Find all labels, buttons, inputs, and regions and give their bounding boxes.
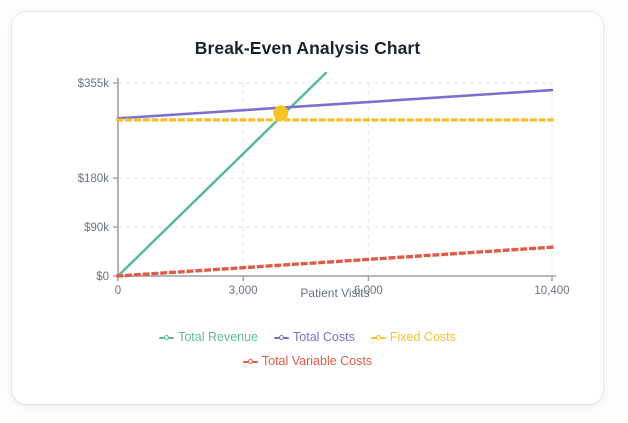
- series-lines: [118, 73, 552, 276]
- y-tick-label: $355k: [78, 78, 110, 90]
- y-tick-label: $90k: [84, 222, 109, 234]
- chart-card: Break-Even Analysis Chart $0$90k$180k$35…: [12, 12, 603, 404]
- data-point-markers[interactable]: [273, 105, 288, 120]
- legend-marker-icon: [243, 356, 258, 366]
- legend-item-total-costs[interactable]: Total Costs: [274, 330, 355, 344]
- legend-marker-icon: [159, 332, 174, 342]
- legend-marker-icon: [274, 332, 289, 342]
- y-tick-label: $180k: [78, 173, 110, 185]
- legend-label: Total Variable Costs: [262, 354, 372, 368]
- screenshot-root: Break-Even Analysis Chart $0$90k$180k$35…: [0, 0, 628, 423]
- legend-label: Total Costs: [293, 330, 355, 344]
- x-tick-label: 3,000: [229, 285, 258, 297]
- series-line-total-revenue: [118, 73, 326, 276]
- series-line-total-variable-costs: [118, 247, 552, 276]
- legend-label: Fixed Costs: [390, 330, 456, 344]
- y-tick-label: $0: [96, 271, 109, 283]
- x-tick-label: 10,400: [534, 285, 569, 297]
- legend-row: Total Variable Costs: [12, 349, 603, 373]
- legend-item-total-variable-costs[interactable]: Total Variable Costs: [243, 354, 372, 368]
- legend-label: Total Revenue: [178, 330, 258, 344]
- break-even-point[interactable]: [273, 105, 288, 120]
- legend-marker-icon: [371, 332, 386, 342]
- series-line-total-costs: [118, 90, 552, 118]
- gridlines: [118, 83, 552, 276]
- x-axis-title: Patient Visits: [300, 286, 369, 300]
- chart-legend: Total RevenueTotal CostsFixed Costs Tota…: [12, 325, 603, 373]
- legend-item-fixed-costs[interactable]: Fixed Costs: [371, 330, 456, 344]
- y-tick-labels: $0$90k$180k$355k: [78, 78, 110, 283]
- axis-lines: [118, 78, 556, 276]
- legend-item-total-revenue[interactable]: Total Revenue: [159, 330, 258, 344]
- legend-row: Total RevenueTotal CostsFixed Costs: [12, 325, 603, 349]
- x-tick-label: 0: [115, 285, 121, 297]
